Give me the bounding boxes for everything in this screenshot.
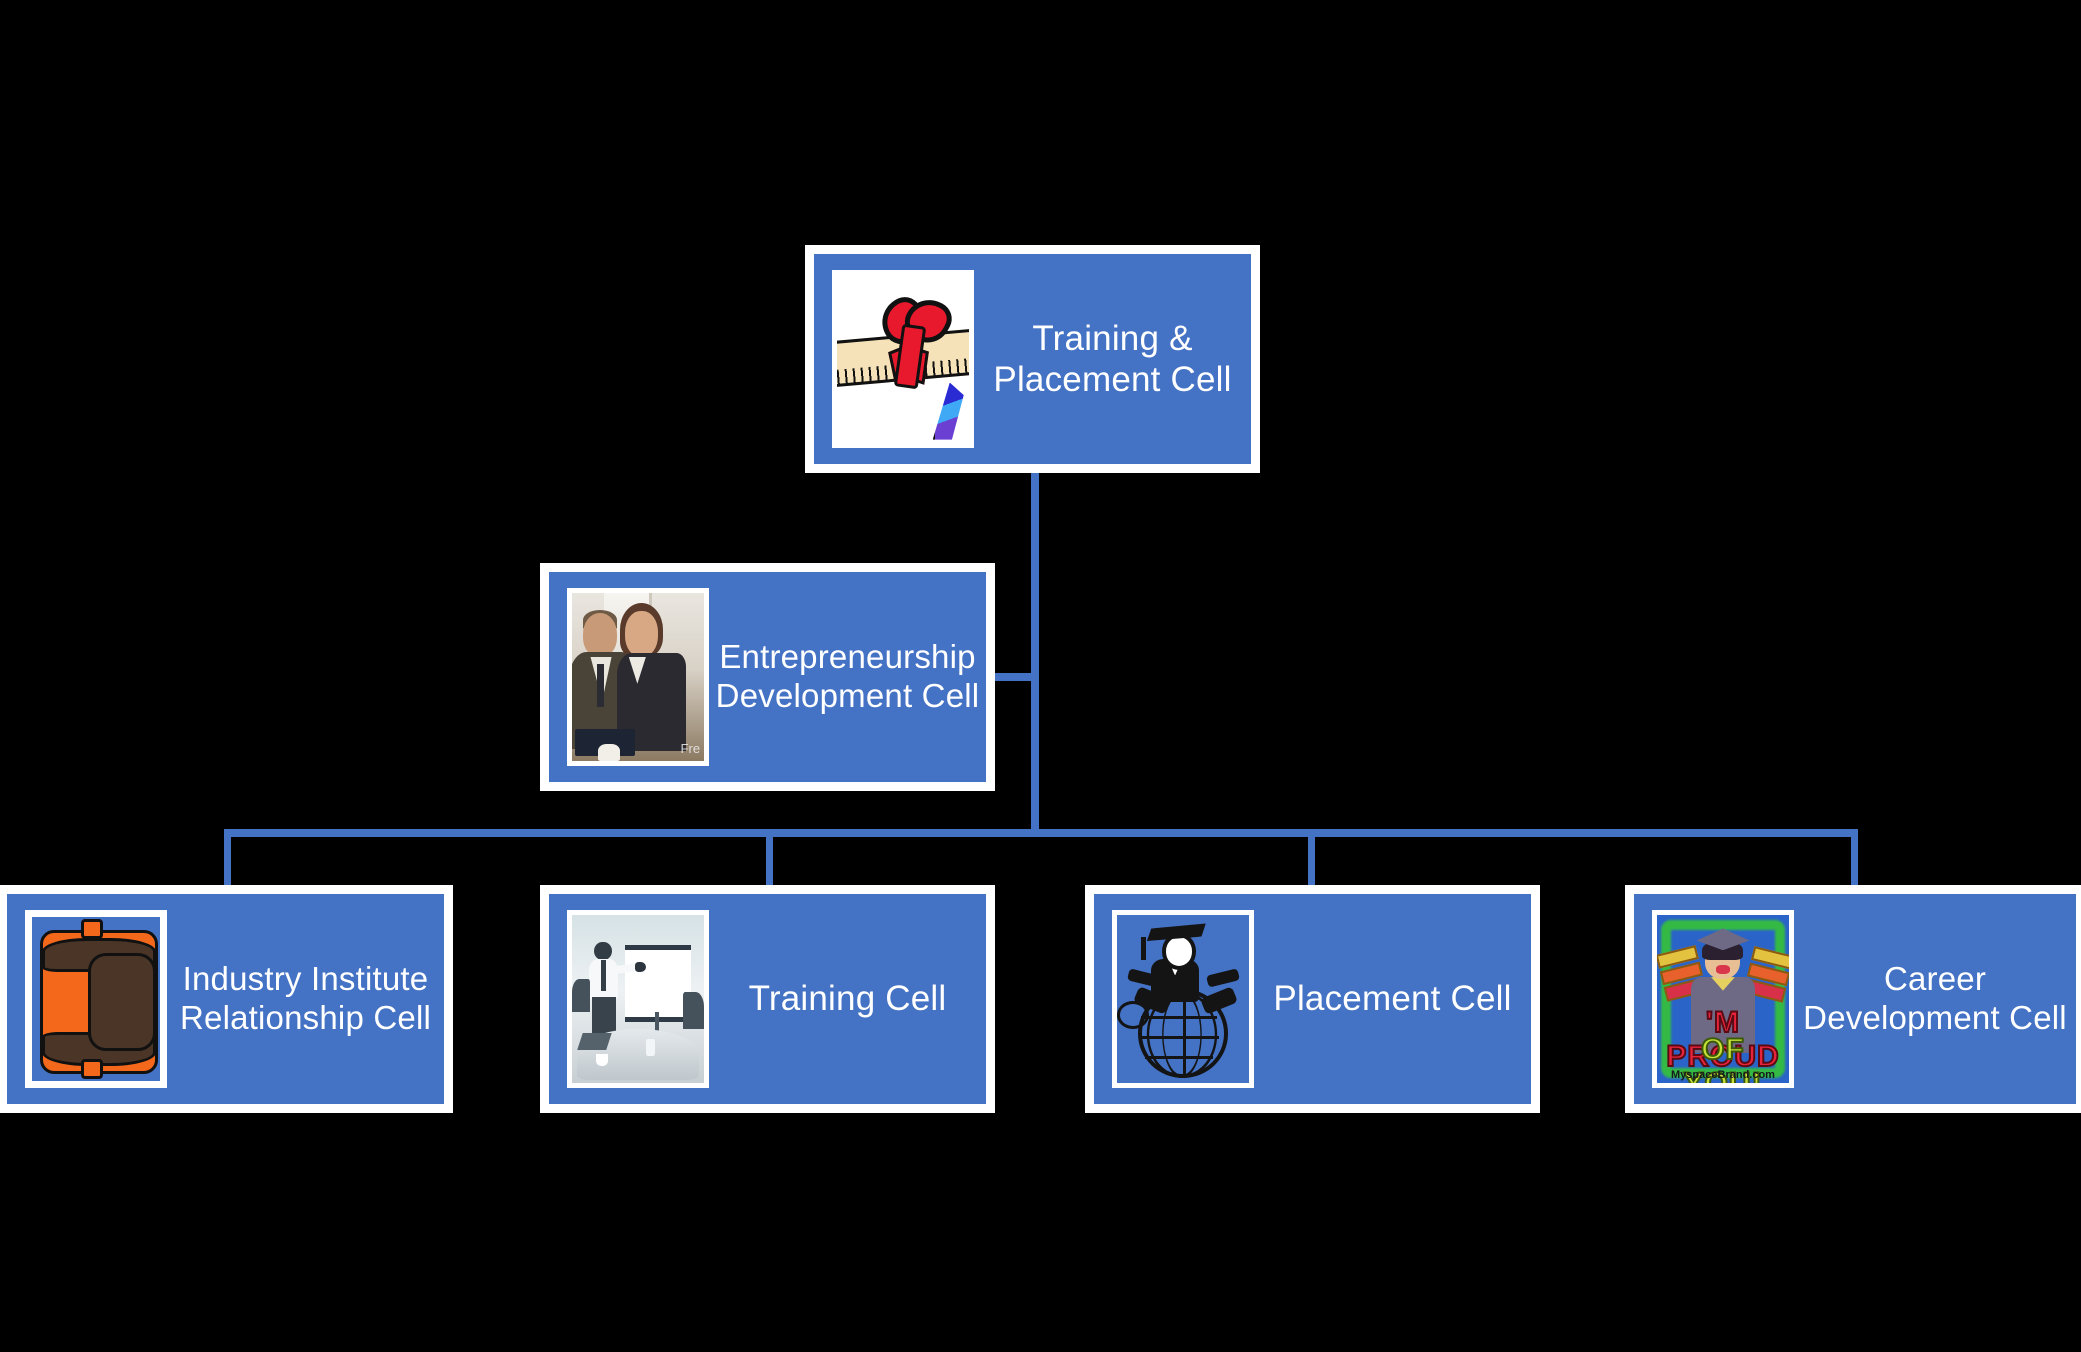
node-label-industry-institute-relationship-cell: Industry Institute Relationship Cell — [167, 960, 444, 1038]
node-label-career-development-cell: Career Development Cell — [1794, 960, 2076, 1038]
thumbnail-diploma-ribbon — [832, 270, 974, 448]
connector-drop-career — [1851, 829, 1858, 887]
node-training-cell[interactable]: Training Cell — [540, 885, 995, 1113]
node-label-training-cell: Training Cell — [709, 978, 986, 1019]
connector-drop-iirc — [224, 829, 231, 887]
node-label-training-and-placement-cell: Training & Placement Cell — [974, 318, 1251, 401]
graduate-on-globe-clipart — [1117, 915, 1249, 1083]
connector-distribution-bar — [224, 829, 1858, 837]
node-entrepreneurship-development-cell[interactable]: Fre Entrepreneurship Development Cell — [540, 563, 995, 791]
proud-graduate-with-books-clipart: 'M PROUD OF YOU! MyspaceBrand.com — [1657, 915, 1789, 1083]
node-placement-cell[interactable]: Placement Cell — [1085, 885, 1540, 1113]
thumbnail-graduate-on-globe — [1112, 910, 1254, 1088]
clipart-watermark: MyspaceBrand.com — [1657, 1069, 1789, 1081]
node-industry-institute-relationship-cell[interactable]: Industry Institute Relationship Cell — [0, 885, 453, 1113]
thumbnail-proud-graduate: 'M PROUD OF YOU! MyspaceBrand.com — [1652, 910, 1794, 1088]
node-label-entrepreneurship-development-cell: Entrepreneurship Development Cell — [709, 638, 986, 716]
connector-drop-training — [766, 829, 773, 887]
connector-drop-placement — [1308, 829, 1315, 887]
node-career-development-cell[interactable]: 'M PROUD OF YOU! MyspaceBrand.com Career… — [1625, 885, 2081, 1113]
thumbnail-business-meeting: Fre — [567, 588, 709, 766]
business-meeting-photo: Fre — [572, 593, 704, 761]
connector-assistant-horizontal — [988, 673, 1036, 681]
diploma-ribbon-clipart — [837, 275, 969, 443]
org-chart-slide: Training & Placement Cell Fre Entreprene… — [0, 0, 2081, 1352]
thumbnail-orange-car — [25, 910, 167, 1088]
photo-watermark: Fre — [681, 741, 701, 756]
thumbnail-presenter-whiteboard — [567, 910, 709, 1088]
orange-car-top-view-icon — [32, 917, 160, 1081]
presenter-whiteboard-illustration — [572, 915, 704, 1083]
connector-trunk-vertical — [1031, 472, 1039, 836]
node-label-placement-cell: Placement Cell — [1254, 978, 1531, 1019]
node-training-and-placement-cell[interactable]: Training & Placement Cell — [805, 245, 1260, 473]
